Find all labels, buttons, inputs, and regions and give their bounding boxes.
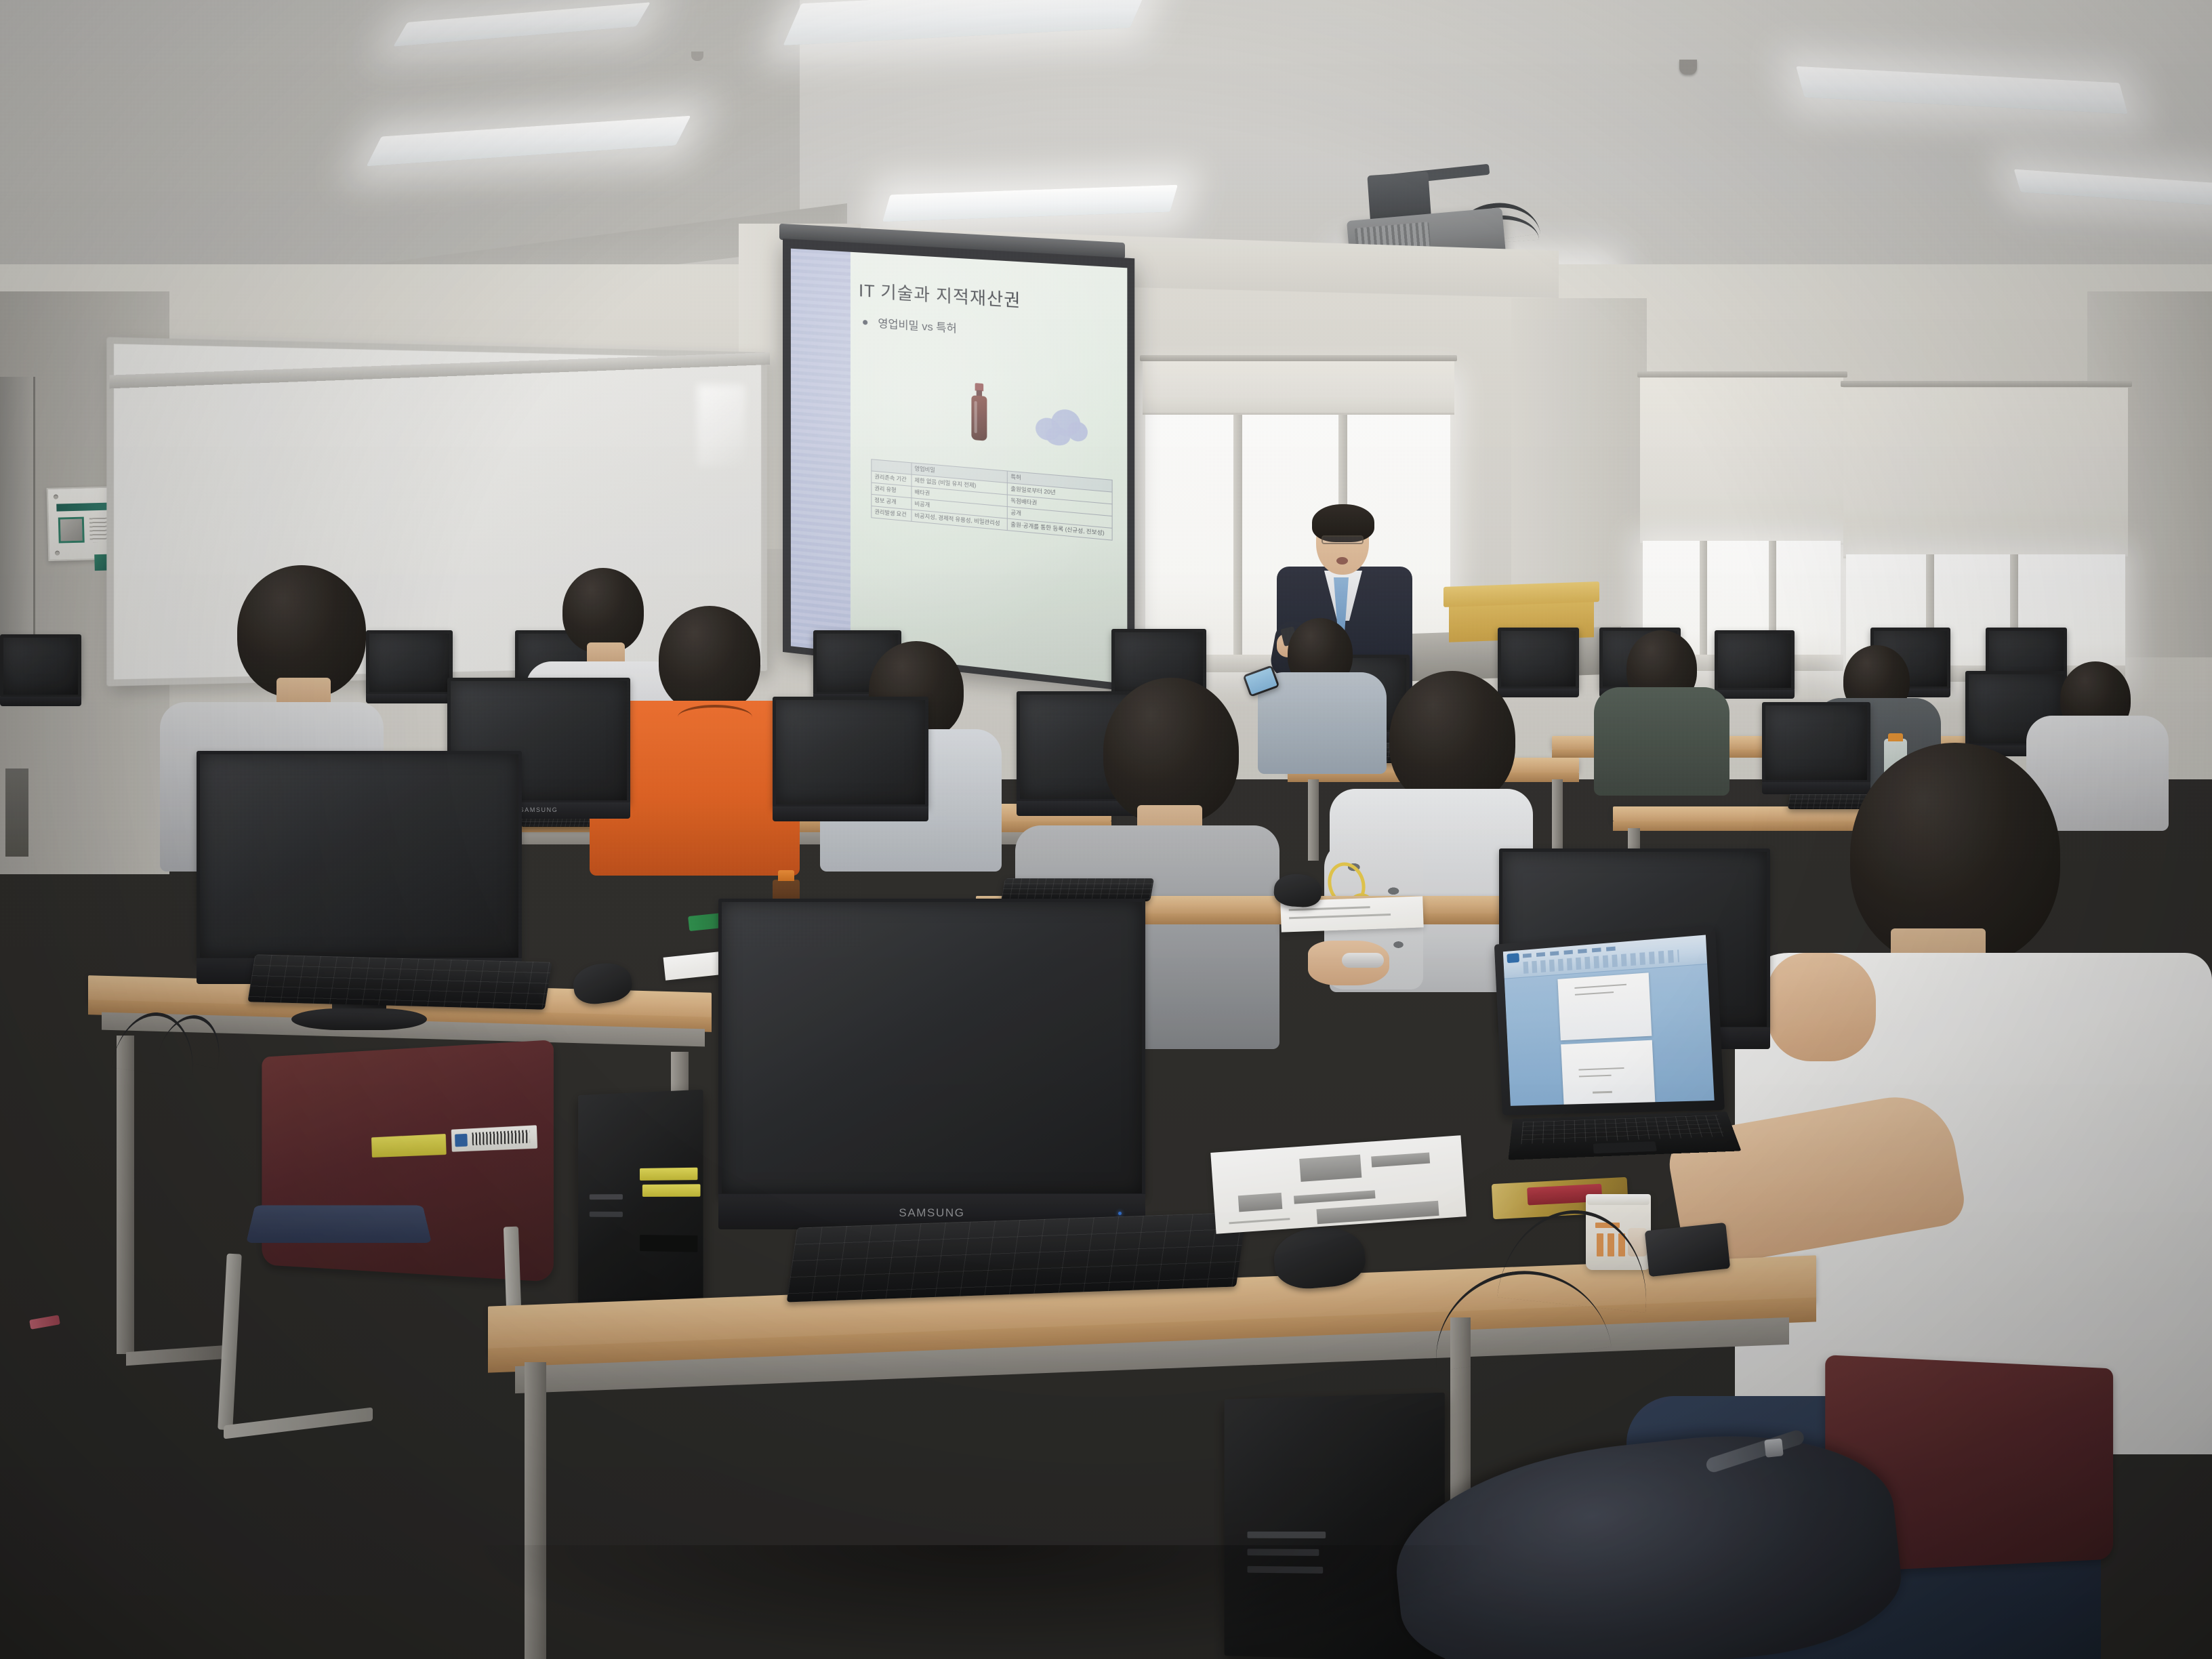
chair-frame [218, 1254, 242, 1431]
sprinkler-head-icon [1679, 60, 1697, 75]
desk-foot [126, 1345, 228, 1366]
asset-tag-barcode [451, 1125, 537, 1151]
slide-bullet-text: 영업비밀 vs 특허 [878, 314, 956, 335]
window-blind[interactable] [1143, 359, 1454, 415]
blind-rail [1841, 381, 2132, 387]
handout-paper[interactable] [1210, 1135, 1466, 1234]
door-panel[interactable] [0, 377, 35, 661]
slide-bullet-marker [863, 320, 867, 325]
slide-sidebar-graphic [791, 249, 851, 653]
laptop-keyboard[interactable] [1521, 1115, 1725, 1144]
laptop-screen [1503, 935, 1715, 1105]
laptop-document-page [1561, 1040, 1655, 1106]
laptop-lid [1494, 926, 1725, 1115]
tower-port [590, 1194, 623, 1200]
student-torso [1594, 687, 1729, 796]
participant-head [1389, 671, 1515, 806]
student-head [1103, 678, 1239, 824]
laptop-trackpad[interactable] [1593, 1141, 1657, 1153]
door-glass [5, 769, 28, 857]
smartphone[interactable] [1645, 1223, 1730, 1277]
student-torso [1258, 672, 1387, 774]
keyboard[interactable] [1001, 878, 1154, 901]
asset-tag-yellow [640, 1168, 697, 1181]
monitor-brand-logo: SAMSUNG [718, 1194, 1145, 1220]
window-mullion [1700, 541, 1707, 670]
mouse[interactable] [1273, 873, 1322, 909]
optical-drive[interactable] [640, 1235, 697, 1252]
window-mullion [1233, 380, 1242, 671]
sprinkler-head-icon [691, 52, 703, 61]
blind-rail [1140, 355, 1457, 361]
projection-screen: IT 기술과 지적재산권 영업비밀 vs 특허 영업비밀 특허 [783, 239, 1134, 692]
monitor-power-led [1118, 1212, 1122, 1215]
plaque-screw [55, 551, 60, 556]
plaque-image-left [58, 517, 85, 544]
slide-title: IT 기술과 지적재산권 [859, 277, 1021, 312]
student-head [562, 568, 644, 653]
floor-object [29, 1315, 60, 1329]
asset-tag-yellow [642, 1184, 701, 1197]
instructor-mouth [1336, 557, 1348, 565]
window-blind[interactable] [1843, 388, 2128, 558]
window-blind[interactable] [1640, 377, 1843, 545]
slide-bottle-image [970, 383, 988, 441]
desk-leg [117, 1036, 134, 1354]
slide-surface: IT 기술과 지적재산권 영업비밀 vs 특허 영업비밀 특허 [791, 249, 1127, 684]
slide-molecule-image [1036, 407, 1088, 448]
tower-port [1247, 1532, 1326, 1538]
tower-port [590, 1212, 623, 1217]
laptop-document-page [1557, 972, 1652, 1040]
blind-rail [1637, 371, 1847, 377]
keyboard[interactable] [247, 954, 552, 1010]
chair-base [224, 1407, 373, 1439]
chair-seat[interactable] [246, 1206, 432, 1244]
asset-tag-yellow [371, 1134, 447, 1158]
desk-leg [1308, 779, 1319, 861]
backpack-zipper-pull[interactable] [1764, 1438, 1784, 1458]
classroom-photo: IT 기술과 지적재산권 영업비밀 vs 특허 영업비밀 특허 [0, 0, 2212, 1659]
student-head [659, 606, 760, 713]
laptop-app-ribbon [1503, 935, 1707, 979]
desk-shadow [474, 1545, 1491, 1659]
desktop-tower [578, 1090, 703, 1319]
desk-leg [1552, 779, 1563, 854]
wristwatch [1342, 953, 1384, 968]
plaque-screw [54, 495, 58, 499]
app-menu-button[interactable] [1507, 953, 1519, 963]
slide-comparison-table: 영업비밀 특허 권리존속 기간 제한 없음 (비밀 유지 전제) 출원일로부터 … [871, 459, 1112, 541]
whiteboard-glare [697, 384, 745, 467]
instructor-glasses [1322, 535, 1364, 544]
foreground-student-hand [1767, 953, 1876, 1061]
